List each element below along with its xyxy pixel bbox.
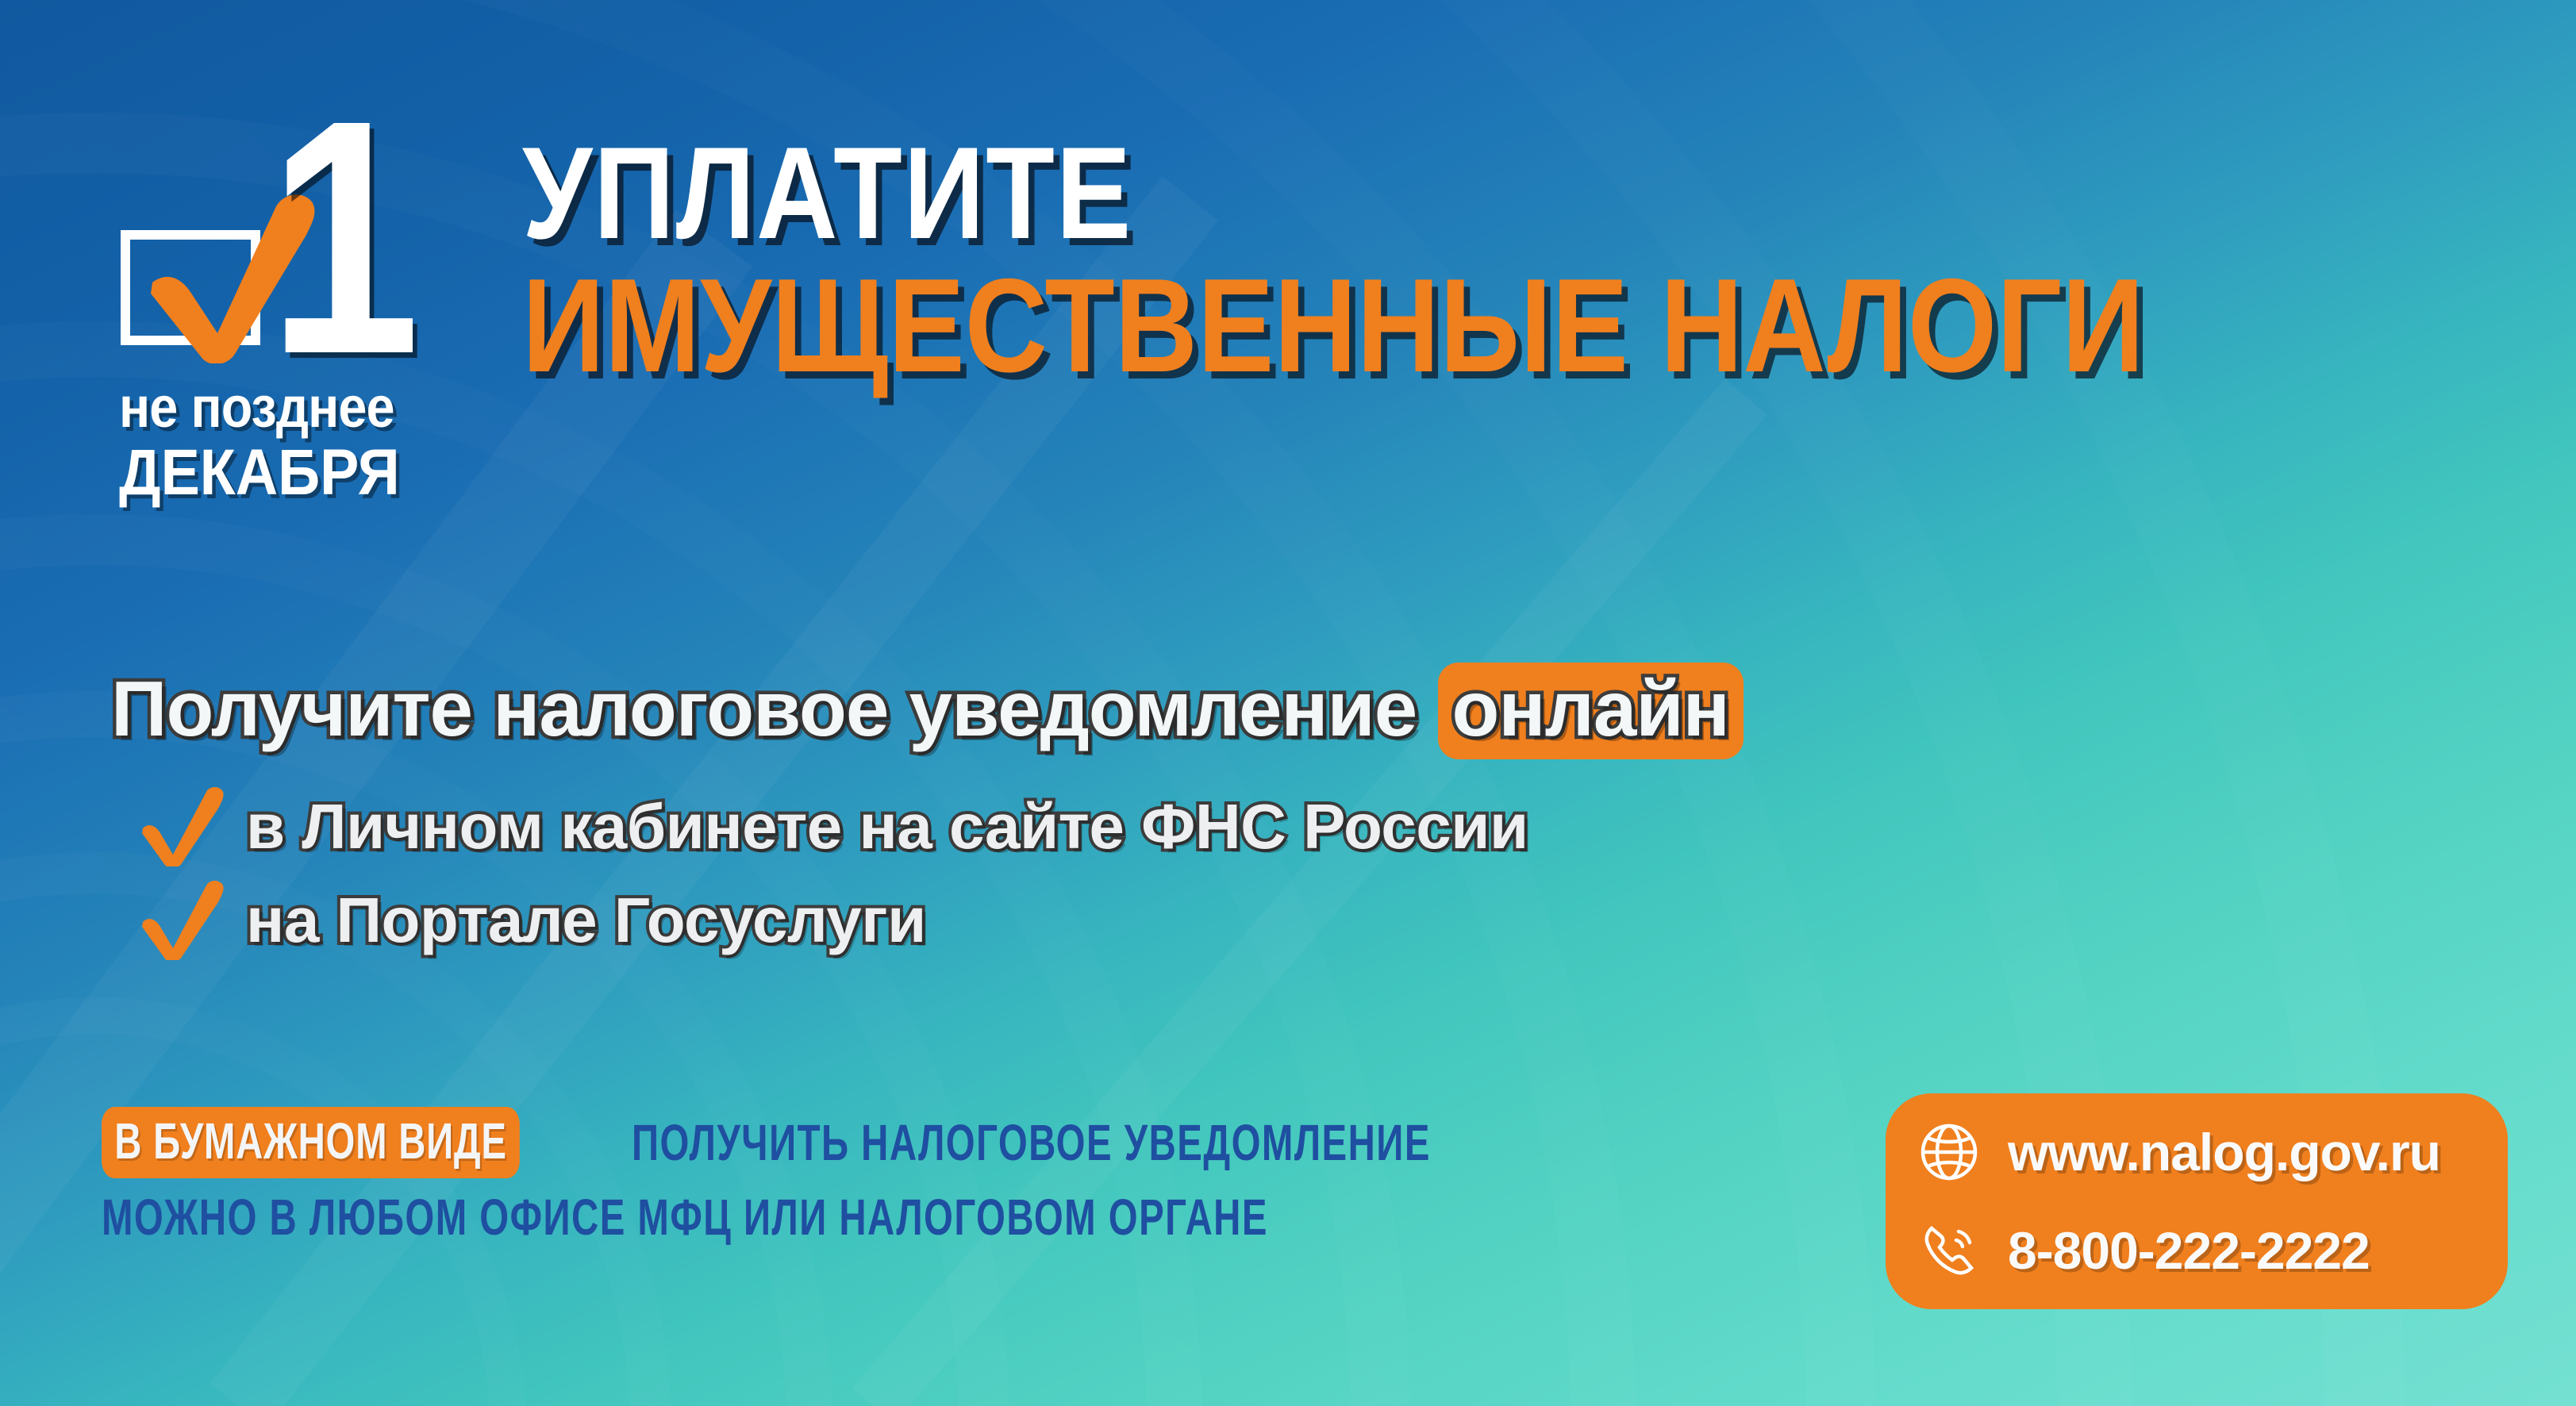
online-highlight-pill: онлайн bbox=[1438, 663, 1744, 759]
deadline-number: 1 bbox=[268, 119, 411, 357]
online-highlight-label: онлайн bbox=[1452, 665, 1729, 752]
headline-group: УПЛАТИТЕ ИМУЩЕСТВЕННЫЕ НАЛОГИ bbox=[522, 119, 2409, 392]
list-item-label: на Портале Госуслуги bbox=[246, 885, 926, 955]
list-item-label: в Личном кабинете на сайте ФНС России bbox=[246, 792, 1528, 862]
deadline-line-1: не позднее bbox=[119, 377, 455, 439]
contact-website-row[interactable]: www.nalog.gov.ru bbox=[1917, 1120, 2476, 1184]
deadline-date-lines: не позднее ДЕКАБРЯ bbox=[119, 377, 492, 507]
contact-phone-row[interactable]: 8-800-222-2222 bbox=[1917, 1219, 2476, 1282]
paper-form-pill: В БУМАЖНОМ ВИДЕ bbox=[102, 1107, 520, 1178]
paper-option-block: В БУМАЖНОМ ВИДЕ ПОЛУЧИТЬ НАЛОГОВОЕ УВЕДО… bbox=[102, 1107, 1736, 1245]
headline-line-1: УПЛАТИТЕ bbox=[522, 133, 2144, 252]
contact-card: www.nalog.gov.ru 8-800-222-2222 bbox=[1886, 1093, 2508, 1309]
phone-call-icon bbox=[1917, 1219, 1981, 1282]
paper-option-text-1: ПОЛУЧИТЬ НАЛОГОВОЕ УВЕДОМЛЕНИЕ bbox=[632, 1115, 1431, 1170]
deadline-badge: 1 не позднее ДЕКАБРЯ bbox=[102, 119, 506, 357]
globe-icon bbox=[1917, 1120, 1981, 1184]
poster-canvas: 1 не позднее ДЕКАБРЯ УПЛАТИТЕ ИМУЩЕСТВЕН… bbox=[0, 0, 2576, 1406]
deadline-number-group: 1 bbox=[102, 119, 506, 357]
middle-heading-prefix: Получите налоговое уведомление bbox=[111, 665, 1417, 752]
orange-check-icon bbox=[138, 787, 225, 866]
paper-option-text-2: МОЖНО В ЛЮБОМ ОФИСЕ МФЦ ИЛИ НАЛОГОВОМ ОР… bbox=[102, 1189, 1268, 1245]
contact-website[interactable]: www.nalog.gov.ru bbox=[2008, 1124, 2440, 1181]
headline-line-2: ИМУЩЕСТВЕННЫЕ НАЛОГИ bbox=[522, 259, 2144, 392]
contact-phone[interactable]: 8-800-222-2222 bbox=[2008, 1222, 2370, 1279]
middle-heading: Получите налоговое уведомление онлайн bbox=[111, 663, 1744, 759]
middle-section: Получите налоговое уведомление онлайн в … bbox=[111, 663, 1744, 967]
deadline-line-2: ДЕКАБРЯ bbox=[119, 439, 455, 507]
paper-option-line-1: В БУМАЖНОМ ВИДЕ ПОЛУЧИТЬ НАЛОГОВОЕ УВЕДО… bbox=[102, 1107, 1736, 1178]
paper-option-line-2: МОЖНО В ЛЮБОМ ОФИСЕ МФЦ ИЛИ НАЛОГОВОМ ОР… bbox=[102, 1189, 1736, 1245]
list-item: в Личном кабинете на сайте ФНС России bbox=[138, 780, 1744, 874]
list-item: на Портале Госуслуги bbox=[138, 874, 1744, 967]
top-headline-block: 1 не позднее ДЕКАБРЯ УПЛАТИТЕ ИМУЩЕСТВЕН… bbox=[102, 119, 2409, 392]
bullet-list: в Личном кабинете на сайте ФНС России на… bbox=[138, 780, 1744, 967]
orange-check-icon bbox=[138, 881, 225, 960]
